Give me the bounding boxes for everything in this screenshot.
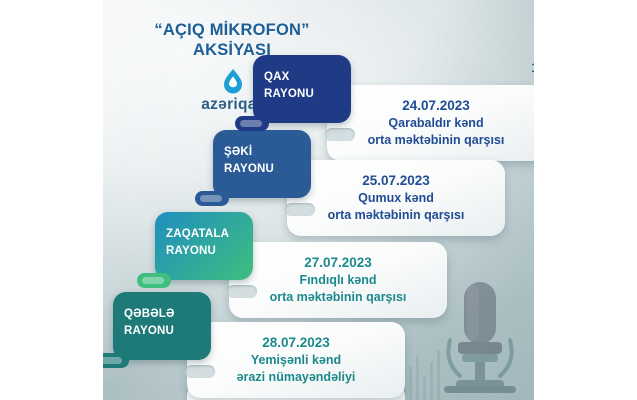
event-date: 25.07.2023 [362, 172, 430, 190]
event-date: 24.07.2023 [402, 97, 470, 115]
region-tag-zaqatala[interactable]: ZAQATALA RAYONU [155, 212, 253, 280]
tag-plug [195, 191, 229, 206]
event-location-line-1: Yemişənli kənd [251, 352, 341, 369]
schedule-card[interactable]: 25.07.2023 Qumux kənd orta məktəbinin qa… [287, 160, 505, 236]
card-socket [285, 203, 315, 216]
event-date: 28.07.2023 [262, 334, 330, 352]
title-line-1: “AÇIQ MİKROFON” [117, 20, 347, 40]
time-block: 11:00-12:00 [503, 8, 534, 75]
event-hours: 11:00-12:00 [503, 60, 534, 75]
event-location-line-2: orta məktəbinin qarşısı [270, 289, 407, 306]
event-location-line-2: orta məktəbinin qarşısı [328, 207, 465, 224]
event-location-line-2: ərazi nümayəndəliyi [237, 369, 356, 386]
poster-panel: “AÇIQ MİKROFON” AKSİYASI azəriqaz [103, 0, 534, 400]
region-tag-qax[interactable]: QAX RAYONU [253, 55, 351, 123]
page-title: “AÇIQ MİKROFON” AKSİYASI [117, 20, 347, 60]
region-tag-seki[interactable]: ŞƏKİ RAYONU [213, 130, 311, 198]
card-socket [325, 128, 355, 141]
region-tag-label: QƏBƏLƏ RAYONU [124, 306, 203, 340]
tag-plug [235, 116, 269, 131]
region-tag-qebele[interactable]: QƏBƏLƏ RAYONU [113, 292, 211, 360]
tag-plug [103, 353, 129, 368]
schedule-card[interactable]: 24.07.2023 Qarabaldır kənd orta məktəbin… [327, 85, 534, 161]
region-suffix: RAYONU [166, 243, 245, 260]
region-suffix: RAYONU [224, 161, 303, 178]
event-location-line-1: Fındıqlı kənd [299, 272, 376, 289]
schedule-card[interactable]: 27.07.2023 Fındıqlı kənd orta məktəbinin… [229, 242, 447, 318]
region-suffix: RAYONU [124, 323, 203, 340]
region-name: ŞƏKİ [224, 144, 303, 161]
tag-plug [137, 273, 171, 288]
region-tag-label: QAX RAYONU [264, 69, 343, 103]
region-suffix: RAYONU [264, 86, 343, 103]
event-location-line-1: Qarabaldır kənd [388, 115, 483, 132]
card-socket [185, 365, 215, 378]
schedule-card[interactable]: 28.07.2023 Yemişənli kənd ərazi nümayənd… [187, 322, 405, 398]
region-name: QAX [264, 69, 343, 86]
poster-canvas: “AÇIQ MİKROFON” AKSİYASI azəriqaz [0, 0, 637, 400]
event-date: 27.07.2023 [304, 254, 372, 272]
card-socket [227, 285, 257, 298]
region-tag-label: ZAQATALA RAYONU [166, 226, 245, 260]
flame-icon [222, 68, 244, 94]
event-location-line-2: orta məktəbinin qarşısı [368, 132, 505, 149]
region-name: ZAQATALA [166, 226, 245, 243]
event-location-line-1: Qumux kənd [358, 190, 434, 207]
region-tag-label: ŞƏKİ RAYONU [224, 144, 303, 178]
region-name: QƏBƏLƏ [124, 306, 203, 323]
